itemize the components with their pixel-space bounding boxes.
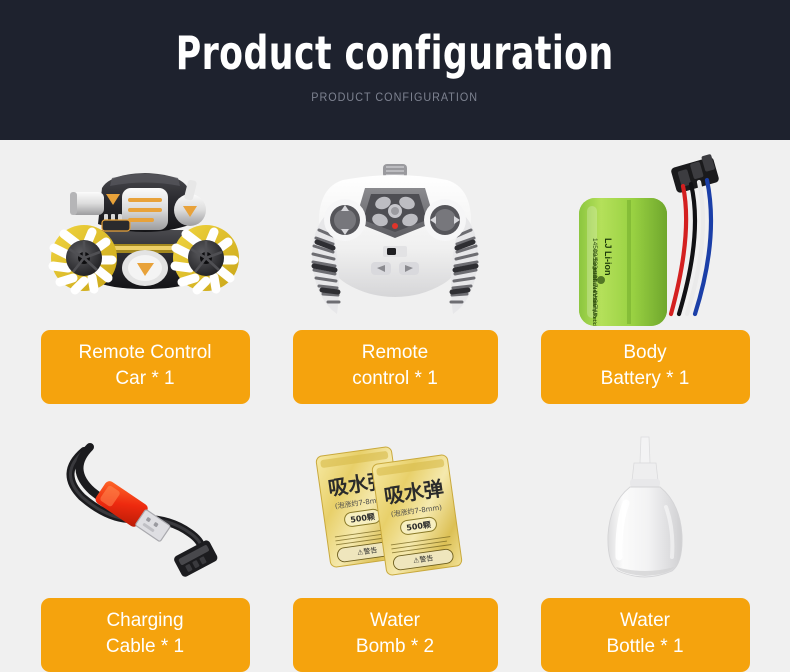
item-remote-control[interactable]: Remote control * 1 — [280, 150, 510, 404]
joystick-left — [324, 199, 366, 241]
label-body-battery: Body Battery * 1 — [541, 330, 750, 404]
rc-stunt-car-icon — [40, 158, 250, 323]
packet-front: 吸水弹 (泡涨约7-8mm) 500颗 ⚠警告 — [372, 454, 463, 575]
label-line-2: Car * 1 — [78, 366, 211, 392]
label-line-2: Battery * 1 — [601, 366, 690, 392]
label-line-2: Bottle * 1 — [606, 634, 683, 660]
water-bottle-icon — [570, 433, 720, 583]
label-line-1: Water — [606, 608, 683, 634]
product-image-body-battery: LJ Li-ion 14500/500mAh 7.4V 3.7Wh Rechar… — [530, 150, 760, 330]
label-line-1: Remote Control — [78, 340, 211, 366]
page-subtitle: PRODUCT CONFIGURATION — [312, 90, 479, 104]
jst-plug-icon — [173, 539, 219, 578]
item-remote-control-car[interactable]: Remote Control Car * 1 — [30, 150, 260, 404]
label-remote-control-car: Remote Control Car * 1 — [41, 330, 250, 404]
svg-text:LJ Li-ion: LJ Li-ion — [603, 238, 613, 276]
svg-text:MADE IN CHINA: MADE IN CHINA — [591, 268, 597, 306]
label-line-1: Body — [601, 340, 690, 366]
configuration-grid: Remote Control Car * 1 — [30, 150, 760, 672]
product-image-water-bomb: 吸水弹 (泡涨约7-8mm) 500颗 ⚠警告 — [280, 418, 510, 598]
product-image-remote-control-car — [30, 150, 260, 330]
page-title: Product configuration — [176, 28, 614, 78]
configuration-row-1: Remote Control Car * 1 — [30, 150, 760, 404]
label-line-1: Charging — [106, 608, 184, 634]
joystick-right — [424, 199, 466, 241]
label-remote-control: Remote control * 1 — [293, 330, 498, 404]
label-water-bomb: Water Bomb * 2 — [293, 598, 498, 672]
rc-transmitter-icon — [295, 158, 495, 323]
label-line-2: control * 1 — [352, 366, 438, 392]
mecanum-wheel-left — [51, 225, 117, 291]
water-bomb-packet-icon: 吸水弹 (泡涨约7-8mm) 500颗 ⚠警告 — [295, 433, 495, 583]
item-charging-cable[interactable]: Charging Cable * 1 — [30, 418, 260, 672]
page-header: Product configuration PRODUCT CONFIGURAT… — [0, 0, 790, 140]
mecanum-wheel-right — [173, 225, 239, 291]
label-water-bottle: Water Bottle * 1 — [541, 598, 750, 672]
power-led-icon — [392, 223, 398, 229]
label-charging-cable: Charging Cable * 1 — [41, 598, 250, 672]
item-water-bomb[interactable]: 吸水弹 (泡涨约7-8mm) 500颗 ⚠警告 — [280, 418, 510, 672]
label-line-2: Cable * 1 — [106, 634, 184, 660]
battery-connector-icon — [670, 154, 719, 194]
item-body-battery[interactable]: LJ Li-ion 14500/500mAh 7.4V 3.7Wh Rechar… — [530, 150, 760, 404]
usb-charging-cable-icon — [40, 433, 250, 583]
label-line-1: Water — [356, 608, 434, 634]
label-line-2: Bomb * 2 — [356, 634, 434, 660]
battery-pack-icon: LJ Li-ion 14500/500mAh 7.4V 3.7Wh Rechar… — [543, 154, 748, 326]
product-image-charging-cable — [30, 418, 260, 598]
product-image-remote-control — [280, 150, 510, 330]
label-line-1: Remote — [352, 340, 438, 366]
product-image-water-bottle — [530, 418, 760, 598]
configuration-row-2: Charging Cable * 1 — [30, 418, 760, 672]
product-configuration-page: Product configuration PRODUCT CONFIGURAT… — [0, 0, 790, 665]
item-water-bottle[interactable]: Water Bottle * 1 — [530, 418, 760, 672]
